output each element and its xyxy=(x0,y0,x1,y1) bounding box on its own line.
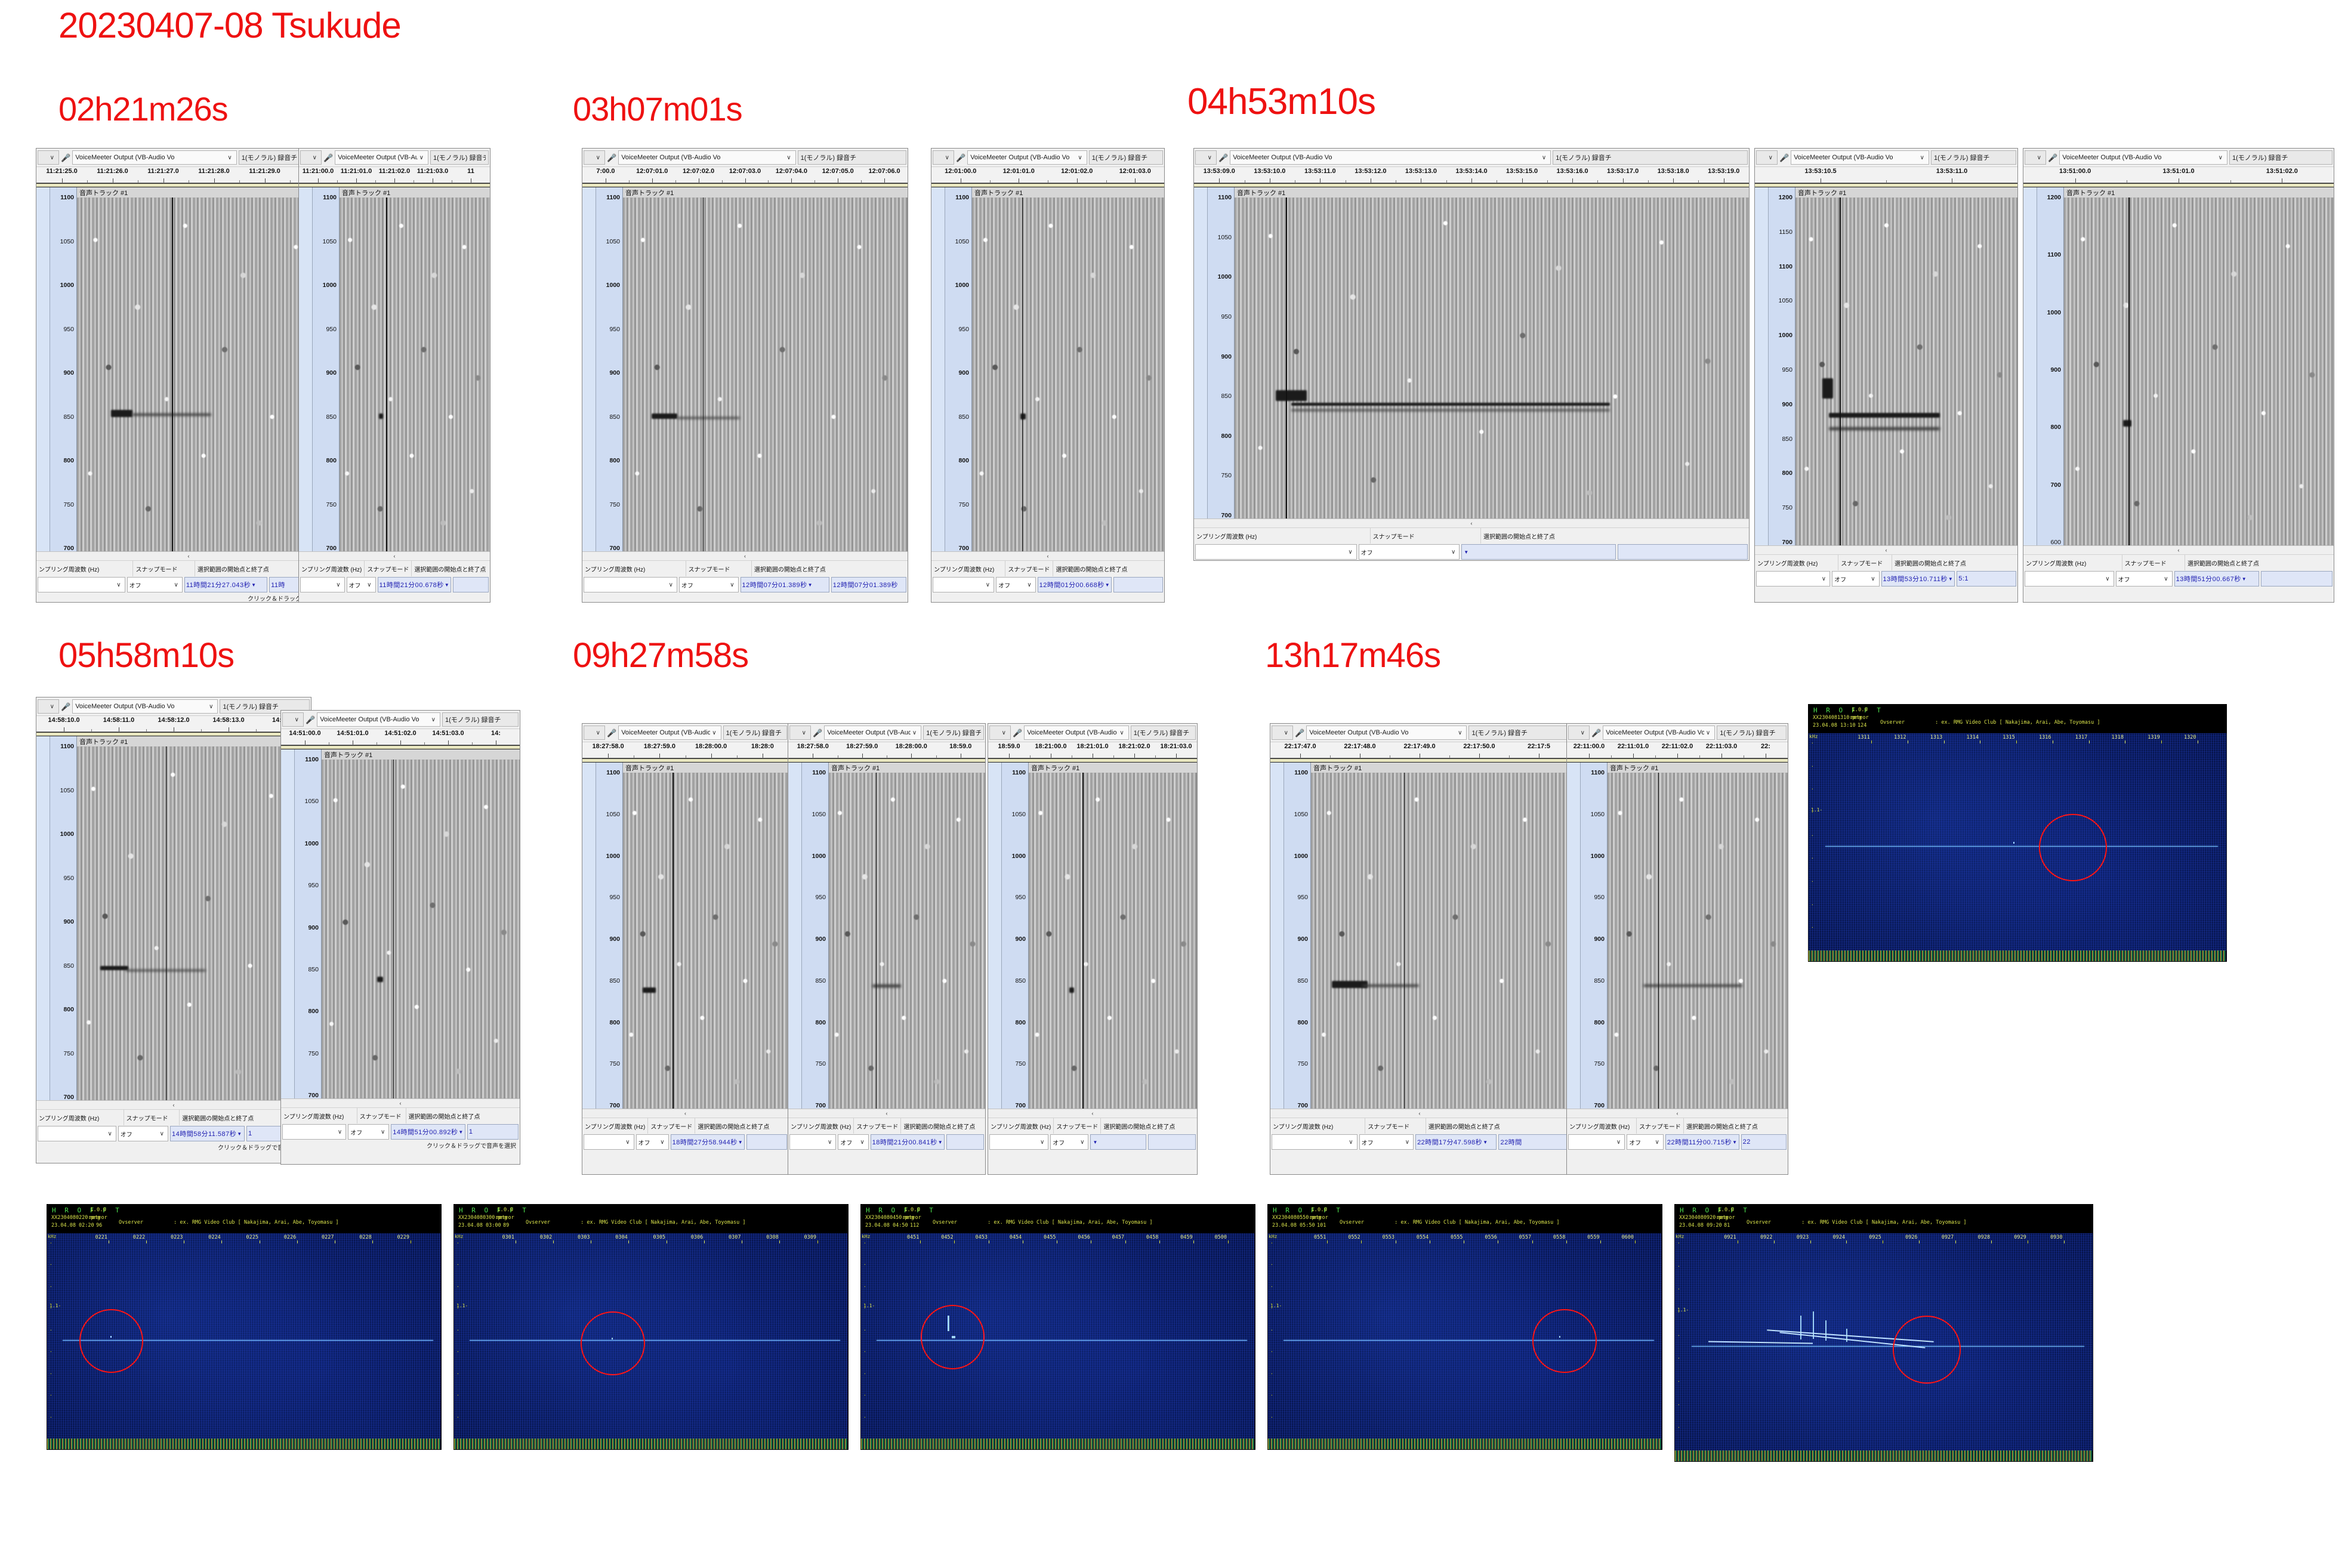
selection-values-row[interactable]: ∨ オフ ∨ 22時間11分00.715秒 ▼ 22 xyxy=(1567,1134,1788,1150)
recording-channels-combo[interactable]: 1(モノラル) 録音チ xyxy=(430,150,489,165)
recording-device-combo[interactable]: VoiceMeeter Output (VB-Audio Vo ∨ xyxy=(72,150,237,165)
scroll-left-icon[interactable]: ‹ xyxy=(886,1110,888,1116)
spectrogram-canvas[interactable] xyxy=(340,197,490,551)
selection-toolbar[interactable]: ‹ ンプリング周波数 (Hz) スナップモード 選択範囲の開始点と終了点 ∨ オ… xyxy=(788,1109,985,1160)
host-combo[interactable]: ∨ xyxy=(38,150,59,165)
spinner-icon[interactable]: ▼ xyxy=(237,1131,242,1137)
track-panel[interactable]: 110010501000950900850800750700音声トラック #1 xyxy=(788,763,985,1109)
snap-mode-combo[interactable]: オフ ∨ xyxy=(996,577,1036,592)
selection-values-row[interactable]: ∨ オフ ∨ ▼ xyxy=(988,1134,1197,1150)
recording-channels-combo[interactable]: 1(モノラル) 録音チ xyxy=(798,150,906,165)
selection-end-field[interactable] xyxy=(453,577,489,592)
playhead-bar[interactable] xyxy=(36,183,341,187)
selection-start-field[interactable]: 13時間51分00.667秒 ▼ xyxy=(2174,571,2259,587)
selection-start-field[interactable]: 14時間51分00.892秒 ▼ xyxy=(391,1124,465,1140)
hrofft-spectrogram[interactable]: kHz1.1-·········092109220923092409250926… xyxy=(1675,1233,2093,1450)
snap-mode-combo[interactable]: オフ ∨ xyxy=(347,577,376,592)
playhead-bar[interactable] xyxy=(1270,758,1569,763)
track-control-column[interactable] xyxy=(1270,763,1284,1109)
spectrogram-canvas[interactable] xyxy=(972,197,1164,551)
recording-device-combo[interactable]: VoiceMeeter Output (VB-Audio Vo ∨ xyxy=(618,150,795,165)
selection-values-row[interactable]: ∨ オフ ∨ 11時間21分00.678秒 ▼ xyxy=(299,576,490,593)
device-toolbar[interactable]: ∨ 🎤 VoiceMeeter Output (VB-Audio Vo ∨ 1(… xyxy=(36,149,341,167)
selection-values-row[interactable]: ∨ オフ ∨ 11時間21分27.043秒 ▼ 11時 xyxy=(36,576,341,593)
spinner-icon[interactable]: ▼ xyxy=(2242,576,2247,582)
selection-toolbar[interactable]: ‹ ンプリング周波数 (Hz) スナップモード 選択範囲の開始点と終了点 ∨ オ… xyxy=(299,551,490,603)
hrofft-spectrogram[interactable]: kHz1.1-·········045104520453045404550456… xyxy=(861,1233,1255,1439)
horizontal-scrollbar[interactable]: ‹ xyxy=(788,1109,985,1118)
spectrogram-canvas[interactable] xyxy=(623,773,788,1109)
horizontal-scrollbar[interactable]: ‹ xyxy=(931,552,1164,561)
spinner-icon[interactable]: ▼ xyxy=(1464,550,1468,555)
selection-start-field[interactable]: ▼ xyxy=(1461,544,1616,560)
device-toolbar[interactable]: ∨ 🎤 VoiceMeeter Output (VB-Audio Vo ∨ 1(… xyxy=(1567,724,1788,742)
horizontal-scrollbar[interactable]: ‹ xyxy=(1270,1109,1569,1118)
audacity-window[interactable]: ∨ 🎤 VoiceMeeter Output (VB-Audio Vo ∨ 1(… xyxy=(788,723,986,1175)
device-toolbar[interactable]: ∨ 🎤 VoiceMeeter Output (VB-Audio Vo ∨ 1(… xyxy=(1194,149,1749,167)
timeline-ruler[interactable]: 11:21:25.011:21:26.011:21:27.011:21:28.0… xyxy=(36,167,341,183)
spectrogram-view[interactable]: 音声トラック #1 xyxy=(972,187,1164,551)
selection-values-row[interactable]: ∨ オフ ∨ 22時間17分47.598秒 ▼ 22時間 xyxy=(1270,1134,1569,1150)
selection-toolbar[interactable]: ‹ ンプリング周波数 (Hz) スナップモード 選択範囲の開始点と終了点 ∨ オ… xyxy=(2023,545,2334,597)
selection-end-field[interactable]: 22 xyxy=(1741,1134,1787,1150)
horizontal-scrollbar[interactable]: ‹ xyxy=(1755,546,2017,555)
recording-device-combo[interactable]: VoiceMeeter Output (VB-Audio Vo ∨ xyxy=(1306,726,1467,740)
hrofft-spectrogram[interactable]: kHz1.1-·········030103020303030403050306… xyxy=(454,1233,848,1439)
horizontal-scrollbar[interactable]: ‹ xyxy=(988,1109,1197,1118)
timeline-ruler[interactable]: 18:27:58.018:27:59.018:28:00.018:59.0 xyxy=(788,742,985,758)
audacity-window[interactable]: ∨ 🎤 VoiceMeeter Output (VB-Audio Vo ∨ 1(… xyxy=(280,710,520,1165)
snap-mode-combo[interactable]: オフ ∨ xyxy=(118,1126,168,1141)
recording-channels-combo[interactable]: 1(モノラル) 録音チ xyxy=(1553,150,1748,165)
playhead-bar[interactable] xyxy=(1755,183,2017,187)
recording-device-combo[interactable]: VoiceMeeter Output (VB-Audio Vo ∨ xyxy=(1024,726,1129,740)
timeline-ruler[interactable]: 12:01:00.012:01:01.012:01:02.012:01:03.0 xyxy=(931,167,1164,183)
host-combo[interactable]: ∨ xyxy=(38,699,59,714)
selection-start-field[interactable]: 13時間53分10.711秒 ▼ xyxy=(1881,571,1955,587)
recording-channels-combo[interactable]: 1(モノラル) 録音チ xyxy=(1131,726,1196,740)
selection-start-field[interactable]: 12時間01分00.668秒 ▼ xyxy=(1038,577,1112,592)
spectrogram-canvas[interactable] xyxy=(322,760,520,1098)
device-toolbar[interactable]: ∨ 🎤 VoiceMeeter Output (VB-Audio Vo ∨ 1(… xyxy=(299,149,490,167)
track-panel[interactable]: 110010501000950900850800750700音声トラック #1 xyxy=(299,187,490,551)
timeline-ruler[interactable]: 14:51:00.014:51:01.014:51:02.014:51:03.0… xyxy=(281,729,520,745)
hrofft-waterfall-panel[interactable]: H R O F F T 1.0.0 XX2304080550.png 23.04… xyxy=(1267,1204,1662,1450)
playback-cursor[interactable] xyxy=(1658,773,1659,1109)
selection-end-field[interactable]: 12時間07分01.389秒 xyxy=(831,577,906,592)
playhead-bar[interactable] xyxy=(299,183,490,187)
samplerate-combo[interactable]: ∨ xyxy=(789,1134,836,1150)
timeline-ruler[interactable]: 7:00.012:07:01.012:07:02.012:07:03.012:0… xyxy=(582,167,908,183)
hrofft-spectrogram[interactable]: kHz1.1-·········022102220223022402250226… xyxy=(47,1233,441,1439)
device-toolbar[interactable]: ∨ 🎤 VoiceMeeter Output (VB-Audio Vo ∨ 1(… xyxy=(788,724,985,742)
device-toolbar[interactable]: ∨ 🎤 VoiceMeeter Output (VB-Audio Vo ∨ 1(… xyxy=(931,149,1164,167)
selection-start-field[interactable]: 18時間21分00.841秒 ▼ xyxy=(871,1134,945,1150)
track-panel[interactable]: 110010501000950900850800750700音声トラック #1 xyxy=(1194,187,1749,518)
recording-device-combo[interactable]: VoiceMeeter Output (VB-Audio Vo ∨ xyxy=(824,726,921,740)
samplerate-combo[interactable]: ∨ xyxy=(989,1134,1048,1150)
timeline-ruler[interactable]: 11:21:00.011:21:01.011:21:02.011:21:03.0… xyxy=(299,167,490,183)
selection-toolbar[interactable]: ‹ ンプリング周波数 (Hz) スナップモード 選択範囲の開始点と終了点 ∨ オ… xyxy=(582,551,908,603)
spinner-icon[interactable]: ▼ xyxy=(1948,576,1953,582)
spinner-icon[interactable]: ▼ xyxy=(1732,1140,1737,1145)
track-control-column[interactable] xyxy=(281,749,295,1098)
playhead-bar[interactable] xyxy=(988,758,1197,763)
scroll-left-icon[interactable]: ‹ xyxy=(684,1110,686,1116)
snap-mode-combo[interactable]: オフ ∨ xyxy=(348,1124,389,1140)
selection-start-field[interactable]: 11時間21分00.678秒 ▼ xyxy=(378,577,452,592)
recording-channels-combo[interactable]: 1(モノラル) 録音チ xyxy=(1089,150,1163,165)
selection-end-field[interactable] xyxy=(1148,1134,1196,1150)
timeline-ruler[interactable]: 22:17:47.022:17:48.022:17:49.022:17:50.0… xyxy=(1270,742,1569,758)
scroll-left-icon[interactable]: ‹ xyxy=(1471,520,1473,526)
spectrogram-view[interactable]: 音声トラック #1 xyxy=(623,763,788,1109)
spectrogram-view[interactable]: 音声トラック #1 xyxy=(1608,763,1788,1109)
selection-values-row[interactable]: ∨ オフ ∨ ▼ xyxy=(1194,544,1749,560)
selection-end-field[interactable] xyxy=(946,1134,984,1150)
host-combo[interactable]: ∨ xyxy=(300,150,322,165)
selection-start-field[interactable]: 11時間21分27.043秒 ▼ xyxy=(184,577,267,592)
snap-mode-combo[interactable]: オフ ∨ xyxy=(127,577,183,592)
host-combo[interactable]: ∨ xyxy=(789,726,811,740)
playhead-bar[interactable] xyxy=(931,183,1164,187)
spectrogram-view[interactable]: 音声トラック #1 xyxy=(340,187,490,551)
recording-channels-combo[interactable]: 1(モノラル) 録音チ xyxy=(1468,726,1568,740)
selection-end-field[interactable] xyxy=(1618,544,1748,560)
recording-channels-combo[interactable]: 1(モノラル) 録音チ xyxy=(1717,726,1787,740)
recording-channels-combo[interactable]: 1(モノラル) 録音チ xyxy=(923,726,984,740)
audacity-window[interactable]: ∨ 🎤 VoiceMeeter Output (VB-Audio Vo ∨ 1(… xyxy=(1566,723,1788,1175)
recording-device-combo[interactable]: VoiceMeeter Output (VB-Audio Vo ∨ xyxy=(1791,150,1929,165)
audacity-window[interactable]: ∨ 🎤 VoiceMeeter Output (VB-Audio Vo ∨ 1(… xyxy=(988,723,1198,1175)
hrofft-spectrogram[interactable]: kHz1.1-·········131113121313131413151316… xyxy=(1809,733,2226,950)
selection-toolbar[interactable]: ‹ ンプリング周波数 (Hz) スナップモード 選択範囲の開始点と終了点 ∨ オ… xyxy=(931,551,1164,603)
samplerate-combo[interactable]: ∨ xyxy=(584,1134,634,1150)
recording-device-combo[interactable]: VoiceMeeter Output (VB-Audio Vo ∨ xyxy=(1230,150,1551,165)
spectrogram-view[interactable]: 音声トラック #1 xyxy=(829,763,985,1109)
audacity-window[interactable]: ∨ 🎤 VoiceMeeter Output (VB-Audio Vo ∨ 1(… xyxy=(36,148,341,603)
spectrogram-canvas[interactable] xyxy=(2064,197,2334,545)
spectrogram-view[interactable]: 音声トラック #1 xyxy=(1235,187,1749,518)
selection-start-field[interactable]: 22時間11分00.715秒 ▼ xyxy=(1665,1134,1739,1150)
hrofft-waterfall-panel[interactable]: H R O F F T 1.0.0 XX2304080220.png 23.04… xyxy=(47,1204,442,1450)
selection-values-row[interactable]: ∨ オフ ∨ 12時間01分00.668秒 ▼ xyxy=(931,576,1164,593)
audacity-window[interactable]: ∨ 🎤 VoiceMeeter Output (VB-Audio Vo ∨ 1(… xyxy=(298,148,490,603)
track-panel[interactable]: 110010501000950900850800750700音声トラック #1 xyxy=(582,187,908,551)
track-control-column[interactable] xyxy=(299,187,313,551)
selection-end-field[interactable] xyxy=(746,1134,787,1150)
playback-cursor[interactable] xyxy=(1082,773,1084,1109)
scroll-left-icon[interactable]: ‹ xyxy=(2178,547,2180,553)
samplerate-combo[interactable]: ∨ xyxy=(300,577,345,592)
selection-toolbar[interactable]: ‹ ンプリング周波数 (Hz) スナップモード 選択範囲の開始点と終了点 ∨ オ… xyxy=(1567,1109,1788,1160)
playback-cursor[interactable] xyxy=(1286,197,1287,518)
selection-start-field[interactable]: 18時間27分58.944秒 ▼ xyxy=(671,1134,745,1150)
selection-toolbar[interactable]: ‹ ンプリング周波数 (Hz) スナップモード 選択範囲の開始点と終了点 ∨ オ… xyxy=(1755,545,2017,597)
scroll-left-icon[interactable]: ‹ xyxy=(1886,547,1887,553)
timeline-ruler[interactable]: 18:59.018:21:00.018:21:01.018:21:02.018:… xyxy=(988,742,1197,758)
scroll-left-icon[interactable]: ‹ xyxy=(394,553,396,559)
track-panel[interactable]: 110010501000950900850800750700音声トラック #1 xyxy=(1270,763,1569,1109)
playback-cursor[interactable] xyxy=(1022,197,1023,551)
timeline-ruler[interactable]: 22:11:00.022:11:01.022:11:02.022:11:03.0… xyxy=(1567,742,1788,758)
spectrogram-canvas[interactable] xyxy=(1608,773,1788,1109)
track-panel[interactable]: 120011001000900800700600音声トラック #1 xyxy=(2023,187,2334,545)
spinner-icon[interactable]: ▼ xyxy=(1105,582,1110,588)
spectrogram-canvas[interactable] xyxy=(829,773,985,1109)
track-panel[interactable]: 110010501000950900850800750700音声トラック #1 xyxy=(36,736,311,1100)
recording-device-combo[interactable]: VoiceMeeter Output (VB-Audio Vo ∨ xyxy=(72,699,218,714)
timeline-ruler[interactable]: 13:53:10.513:53:11.0 xyxy=(1755,167,2017,183)
spectrogram-view[interactable]: 音声トラック #1 xyxy=(1029,763,1197,1109)
track-panel[interactable]: 110010501000950900850800750700音声トラック #1 xyxy=(281,749,520,1098)
track-control-column[interactable] xyxy=(1755,187,1769,545)
samplerate-combo[interactable]: ∨ xyxy=(1195,544,1357,560)
spinner-icon[interactable]: ▼ xyxy=(808,582,813,588)
horizontal-scrollbar[interactable]: ‹ xyxy=(36,552,341,561)
timeline-ruler[interactable]: 13:51:00.013:51:01.013:51:02.0 xyxy=(2023,167,2334,183)
snap-mode-combo[interactable]: オフ ∨ xyxy=(636,1134,669,1150)
spectrogram-view[interactable]: 音声トラック #1 xyxy=(77,736,311,1100)
spectrogram-view[interactable]: 音声トラック #1 xyxy=(623,187,908,551)
snap-mode-combo[interactable]: オフ ∨ xyxy=(1359,1134,1414,1150)
timeline-ruler[interactable]: 14:58:10.014:58:11.014:58:12.014:58:13.0… xyxy=(36,716,311,732)
snap-mode-combo[interactable]: オフ ∨ xyxy=(1627,1134,1664,1150)
spectrogram-canvas[interactable] xyxy=(77,746,311,1100)
track-control-column[interactable] xyxy=(36,736,50,1100)
recording-device-combo[interactable]: VoiceMeeter Output (VB-Audio Vo ∨ xyxy=(618,726,721,740)
recording-device-combo[interactable]: VoiceMeeter Output (VB-Audio Vo ∨ xyxy=(1603,726,1715,740)
timeline-ruler[interactable]: 13:53:09.013:53:10.013:53:11.013:53:12.0… xyxy=(1194,167,1749,183)
playhead-bar[interactable] xyxy=(582,183,908,187)
audacity-window[interactable]: ∨ 🎤 VoiceMeeter Output (VB-Audio Vo ∨ 1(… xyxy=(1754,148,2018,603)
recording-device-combo[interactable]: VoiceMeeter Output (VB-Audio Vo ∨ xyxy=(967,150,1087,165)
selection-toolbar[interactable]: ‹ ンプリング周波数 (Hz) スナップモード 選択範囲の開始点と終了点 ∨ オ… xyxy=(36,551,341,603)
snap-mode-combo[interactable]: オフ ∨ xyxy=(679,577,739,592)
selection-start-field[interactable]: 14時間58分11.587秒 ▼ xyxy=(170,1126,245,1141)
track-panel[interactable]: 110010501000950900850800750700音声トラック #1 xyxy=(36,187,341,551)
host-combo[interactable]: ∨ xyxy=(1756,150,1778,165)
selection-start-field[interactable]: ▼ xyxy=(1090,1134,1146,1150)
spectrogram-canvas[interactable] xyxy=(1029,773,1197,1109)
playback-cursor[interactable] xyxy=(1840,197,1841,545)
spectrogram-canvas[interactable] xyxy=(1235,197,1749,518)
spectrogram-view[interactable]: 音声トラック #1 xyxy=(2064,187,2334,545)
horizontal-scrollbar[interactable]: ‹ xyxy=(36,1101,311,1110)
track-control-column[interactable] xyxy=(1567,763,1581,1109)
track-panel[interactable]: 12001150110010501000950900850800750700音声… xyxy=(1755,187,2017,545)
recording-channels-combo[interactable]: 1(モノラル) 録音チ xyxy=(2229,150,2333,165)
track-control-column[interactable] xyxy=(2023,187,2037,545)
track-panel[interactable]: 110010501000950900850800750700音声トラック #1 xyxy=(988,763,1197,1109)
selection-end-field[interactable]: 1 xyxy=(467,1124,519,1140)
audacity-window[interactable]: ∨ 🎤 VoiceMeeter Output (VB-Audio Vo ∨ 1(… xyxy=(1270,723,1569,1175)
playback-cursor[interactable] xyxy=(876,773,877,1109)
samplerate-combo[interactable]: ∨ xyxy=(282,1124,346,1140)
track-control-column[interactable] xyxy=(1194,187,1208,518)
hrofft-waterfall-panel[interactable]: H R O F F T 1.0.0 XX2304080300.png 23.04… xyxy=(453,1204,849,1450)
selection-toolbar[interactable]: ‹ ンプリング周波数 (Hz) スナップモード 選択範囲の開始点と終了点 ∨ オ… xyxy=(1270,1109,1569,1160)
track-control-column[interactable] xyxy=(931,187,945,551)
device-toolbar[interactable]: ∨ 🎤 VoiceMeeter Output (VB-Audio Vo ∨ 1(… xyxy=(582,149,908,167)
snap-mode-combo[interactable]: オフ ∨ xyxy=(1359,544,1460,560)
playback-cursor[interactable] xyxy=(386,197,387,551)
playback-cursor[interactable] xyxy=(172,197,173,551)
selection-values-row[interactable]: ∨ オフ ∨ 18時間27分58.944秒 ▼ xyxy=(582,1134,788,1150)
audacity-window[interactable]: ∨ 🎤 VoiceMeeter Output (VB-Audio Vo ∨ 1(… xyxy=(931,148,1165,603)
playback-cursor[interactable] xyxy=(672,773,674,1109)
spinner-icon[interactable]: ▼ xyxy=(251,582,256,588)
hrofft-spectrogram[interactable]: kHz1.1-·········055105520553055405550556… xyxy=(1268,1233,1662,1439)
track-control-column[interactable] xyxy=(988,763,1002,1109)
selection-toolbar[interactable]: ‹ ンプリング周波数 (Hz) スナップモード 選択範囲の開始点と終了点 ∨ オ… xyxy=(988,1109,1197,1160)
device-toolbar[interactable]: ∨ 🎤 VoiceMeeter Output (VB-Audio Vo ∨ 1(… xyxy=(582,724,788,742)
snap-mode-combo[interactable]: オフ ∨ xyxy=(1050,1134,1088,1150)
scroll-left-icon[interactable]: ‹ xyxy=(1047,553,1049,559)
scroll-left-icon[interactable]: ‹ xyxy=(173,1102,175,1108)
selection-values-row[interactable]: ∨ オフ ∨ 14時間51分00.892秒 ▼ 1 xyxy=(281,1123,520,1140)
spectrogram-view[interactable]: 音声トラック #1 xyxy=(322,749,520,1098)
selection-end-field[interactable]: 22時間 xyxy=(1498,1134,1568,1150)
samplerate-combo[interactable]: ∨ xyxy=(38,1126,116,1141)
selection-start-field[interactable]: 12時間07分01.389秒 ▼ xyxy=(741,577,829,592)
selection-end-field[interactable]: 5:1 xyxy=(1957,571,2016,587)
track-control-column[interactable] xyxy=(788,763,802,1109)
playback-cursor[interactable] xyxy=(703,197,704,551)
playhead-bar[interactable] xyxy=(1567,758,1788,763)
device-toolbar[interactable]: ∨ 🎤 VoiceMeeter Output (VB-Audio Vo ∨ 1(… xyxy=(988,724,1197,742)
audacity-window[interactable]: ∨ 🎤 VoiceMeeter Output (VB-Audio Vo ∨ 1(… xyxy=(36,697,311,1163)
hrofft-waterfall-panel[interactable]: H R O F F T 1.0.0 XX2304080920.png 23.04… xyxy=(1674,1204,2093,1462)
playback-cursor[interactable] xyxy=(393,760,394,1098)
spinner-icon[interactable]: ▼ xyxy=(738,1140,743,1145)
playback-cursor[interactable] xyxy=(1404,773,1405,1109)
recording-channels-combo[interactable]: 1(モノラル) 録音チ xyxy=(723,726,787,740)
audacity-window[interactable]: ∨ 🎤 VoiceMeeter Output (VB-Audio Vo ∨ 1(… xyxy=(582,723,789,1175)
track-panel[interactable]: 110010501000950900850800750700音声トラック #1 xyxy=(582,763,788,1109)
samplerate-combo[interactable]: ∨ xyxy=(584,577,677,592)
track-control-column[interactable] xyxy=(36,187,50,551)
host-combo[interactable]: ∨ xyxy=(2025,150,2046,165)
horizontal-scrollbar[interactable]: ‹ xyxy=(299,552,490,561)
scroll-left-icon[interactable]: ‹ xyxy=(1419,1110,1421,1116)
snap-mode-combo[interactable]: オフ ∨ xyxy=(2116,571,2173,587)
spinner-icon[interactable]: ▼ xyxy=(1093,1140,1097,1145)
scroll-left-icon[interactable]: ‹ xyxy=(400,1100,402,1106)
selection-start-field[interactable]: 22時間17分47.598秒 ▼ xyxy=(1415,1134,1497,1150)
spinner-icon[interactable]: ▼ xyxy=(938,1140,943,1145)
playhead-bar[interactable] xyxy=(281,745,520,749)
track-control-column[interactable] xyxy=(582,763,596,1109)
spectrogram-view[interactable]: 音声トラック #1 xyxy=(1311,763,1569,1109)
samplerate-combo[interactable]: ∨ xyxy=(2025,571,2114,587)
playhead-bar[interactable] xyxy=(582,758,788,763)
host-combo[interactable]: ∨ xyxy=(282,712,304,727)
host-combo[interactable]: ∨ xyxy=(1272,726,1293,740)
host-combo[interactable]: ∨ xyxy=(989,726,1011,740)
samplerate-combo[interactable]: ∨ xyxy=(1568,1134,1625,1150)
spectrogram-canvas[interactable] xyxy=(1311,773,1569,1109)
selection-values-row[interactable]: ∨ オフ ∨ 14時間58分11.587秒 ▼ 1 xyxy=(36,1125,311,1142)
device-toolbar[interactable]: ∨ 🎤 VoiceMeeter Output (VB-Audio Vo ∨ 1(… xyxy=(2023,149,2334,167)
playhead-bar[interactable] xyxy=(788,758,985,763)
spectrogram-canvas[interactable] xyxy=(1795,197,2017,545)
horizontal-scrollbar[interactable]: ‹ xyxy=(1194,519,1749,528)
selection-toolbar[interactable]: ‹ ンプリング周波数 (Hz) スナップモード 選択範囲の開始点と終了点 ∨ オ… xyxy=(582,1109,788,1160)
audacity-window[interactable]: ∨ 🎤 VoiceMeeter Output (VB-Audio Vo ∨ 1(… xyxy=(1193,148,1750,561)
spinner-icon[interactable]: ▼ xyxy=(445,582,449,588)
horizontal-scrollbar[interactable]: ‹ xyxy=(281,1099,520,1108)
samplerate-combo[interactable]: ∨ xyxy=(1272,1134,1357,1150)
selection-toolbar[interactable]: ‹ ンプリング周波数 (Hz) スナップモード 選択範囲の開始点と終了点 ∨ オ… xyxy=(1194,518,1749,561)
selection-values-row[interactable]: ∨ オフ ∨ 18時間21分00.841秒 ▼ xyxy=(788,1134,985,1150)
playhead-bar[interactable] xyxy=(1194,183,1749,187)
snap-mode-combo[interactable]: オフ ∨ xyxy=(838,1134,868,1150)
snap-mode-combo[interactable]: オフ ∨ xyxy=(1832,571,1879,587)
hrofft-waterfall-panel[interactable]: H R O F F T 1.0.0 XX2304080450.png 23.04… xyxy=(860,1204,1255,1450)
samplerate-combo[interactable]: ∨ xyxy=(38,577,125,592)
selection-end-field[interactable] xyxy=(2261,571,2333,587)
horizontal-scrollbar[interactable]: ‹ xyxy=(582,552,908,561)
device-toolbar[interactable]: ∨ 🎤 VoiceMeeter Output (VB-Audio Vo ∨ 1(… xyxy=(1270,724,1569,742)
host-combo[interactable]: ∨ xyxy=(933,150,954,165)
host-combo[interactable]: ∨ xyxy=(584,150,605,165)
host-combo[interactable]: ∨ xyxy=(1568,726,1590,740)
audacity-window[interactable]: ∨ 🎤 VoiceMeeter Output (VB-Audio Vo ∨ 1(… xyxy=(2023,148,2334,603)
recording-device-combo[interactable]: VoiceMeeter Output (VB-Audio Vo ∨ xyxy=(335,150,428,165)
recording-channels-combo[interactable]: 1(モノラル) 録音チ xyxy=(1931,150,2016,165)
playback-cursor[interactable] xyxy=(166,746,167,1100)
recording-device-combo[interactable]: VoiceMeeter Output (VB-Audio Vo ∨ xyxy=(317,712,440,727)
selection-values-row[interactable]: ∨ オフ ∨ 12時間07分01.389秒 ▼ 12時間07分01.389秒 xyxy=(582,576,908,593)
audacity-window[interactable]: ∨ 🎤 VoiceMeeter Output (VB-Audio Vo ∨ 1(… xyxy=(582,148,908,603)
host-combo[interactable]: ∨ xyxy=(1195,150,1217,165)
scroll-left-icon[interactable]: ‹ xyxy=(744,553,746,559)
scroll-left-icon[interactable]: ‹ xyxy=(1677,1110,1679,1116)
scroll-left-icon[interactable]: ‹ xyxy=(1092,1110,1094,1116)
selection-toolbar[interactable]: ‹ ンプリング周波数 (Hz) スナップモード 選択範囲の開始点と終了点 ∨ オ… xyxy=(281,1098,520,1150)
spectrogram-canvas[interactable] xyxy=(623,197,908,551)
horizontal-scrollbar[interactable]: ‹ xyxy=(1567,1109,1788,1118)
samplerate-combo[interactable]: ∨ xyxy=(933,577,994,592)
recording-device-combo[interactable]: VoiceMeeter Output (VB-Audio Vo ∨ xyxy=(2059,150,2227,165)
track-panel[interactable]: 110010501000950900850800750700音声トラック #1 xyxy=(931,187,1164,551)
selection-values-row[interactable]: ∨ オフ ∨ 13時間51分00.667秒 ▼ xyxy=(2023,570,2334,587)
playback-cursor[interactable] xyxy=(2128,197,2130,545)
horizontal-scrollbar[interactable]: ‹ xyxy=(582,1109,788,1118)
device-toolbar[interactable]: ∨ 🎤 VoiceMeeter Output (VB-Audio Vo ∨ 1(… xyxy=(1755,149,2017,167)
spectrogram-view[interactable]: 音声トラック #1 xyxy=(1795,187,2017,545)
scroll-left-icon[interactable]: ‹ xyxy=(188,553,190,559)
timeline-ruler[interactable]: 18:27:58.018:27:59.018:28:00.018:28:0 xyxy=(582,742,788,758)
selection-toolbar[interactable]: ‹ ンプリング周波数 (Hz) スナップモード 選択範囲の開始点と終了点 ∨ オ… xyxy=(36,1100,311,1152)
spinner-icon[interactable]: ▼ xyxy=(1483,1140,1488,1145)
host-combo[interactable]: ∨ xyxy=(584,726,605,740)
hrofft-waterfall-panel[interactable]: H R O F F T 1.0.0 XX2304081310.png 23.04… xyxy=(1808,704,2227,962)
playhead-bar[interactable] xyxy=(2023,183,2334,187)
selection-end-field[interactable] xyxy=(1113,577,1163,592)
device-toolbar[interactable]: ∨ 🎤 VoiceMeeter Output (VB-Audio Vo ∨ 1(… xyxy=(281,711,520,729)
playhead-bar[interactable] xyxy=(36,732,311,736)
recording-channels-combo[interactable]: 1(モノラル) 録音チ xyxy=(442,712,519,727)
samplerate-combo[interactable]: ∨ xyxy=(1756,571,1830,587)
horizontal-scrollbar[interactable]: ‹ xyxy=(2023,546,2334,555)
spinner-icon[interactable]: ▼ xyxy=(458,1129,463,1135)
track-panel[interactable]: 110010501000950900850800750700音声トラック #1 xyxy=(1567,763,1788,1109)
selection-values-row[interactable]: ∨ オフ ∨ 13時間53分10.711秒 ▼ 5:1 xyxy=(1755,570,2017,587)
device-toolbar[interactable]: ∨ 🎤 VoiceMeeter Output (VB-Audio Vo ∨ 1(… xyxy=(36,697,311,716)
track-control-column[interactable] xyxy=(582,187,596,551)
